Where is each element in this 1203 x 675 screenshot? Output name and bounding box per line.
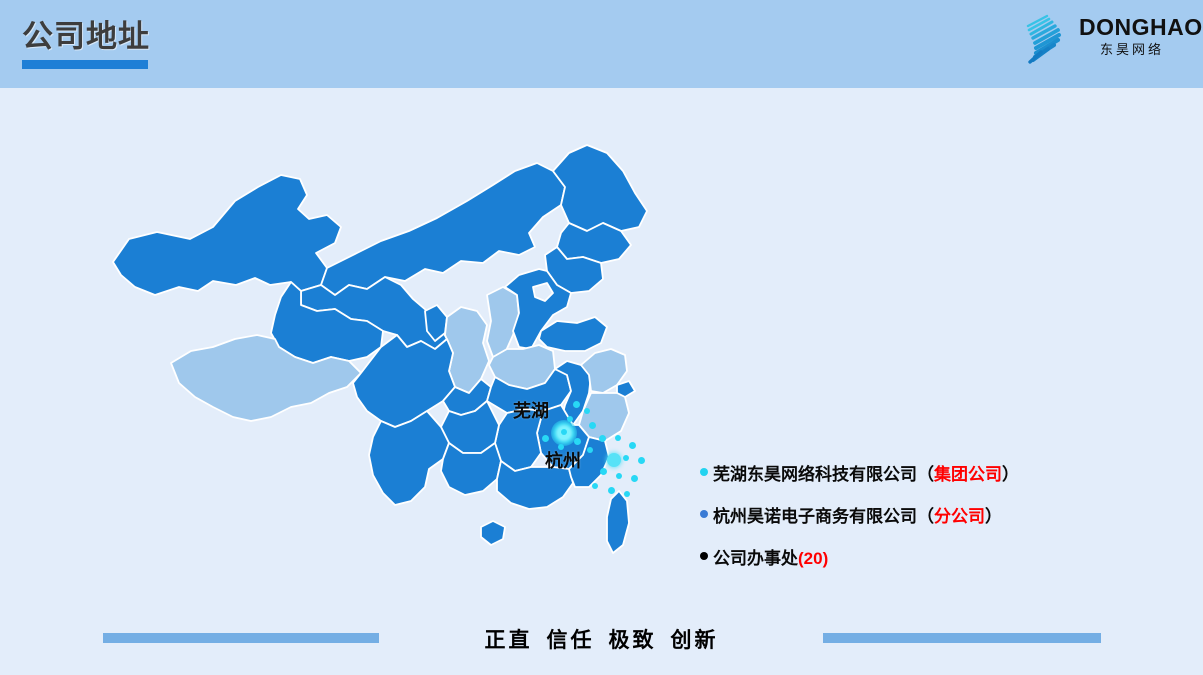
marker-office[interactable] [631, 475, 638, 482]
slogan-word-2: 信任 [547, 629, 595, 652]
province-hainan [481, 521, 505, 545]
marker-office[interactable] [558, 444, 564, 450]
legend-highlight: 集团公司 [934, 465, 1002, 484]
legend-paren-close: ） [1002, 465, 1019, 484]
marker-office[interactable] [574, 438, 581, 445]
marker-office[interactable] [638, 457, 645, 464]
marker-office[interactable] [584, 408, 590, 414]
legend-company-name: 公司办事处 [713, 549, 798, 568]
company-logo: DONGHAO 东昊网络 [1017, 8, 1185, 70]
marker-office[interactable] [629, 442, 636, 449]
legend-company-name: 芜湖东昊网络科技有限公司 [713, 465, 917, 484]
marker-branch-hangzhou[interactable] [607, 453, 621, 467]
marker-office[interactable] [624, 491, 630, 497]
slogan-word-3: 极致 [609, 629, 657, 652]
legend-bullet-icon [700, 552, 708, 560]
logo-text: DONGHAO 东昊网络 [1079, 14, 1185, 59]
slogan-word-4: 创新 [671, 629, 719, 652]
province-heilongjiang [553, 145, 647, 231]
slogan-word-1: 正直 [485, 629, 533, 652]
page-title-wrap: 公司地址 [22, 18, 150, 69]
province-shanxi [487, 287, 519, 357]
title-underline [22, 60, 148, 69]
logo-name: DONGHAO [1079, 14, 1185, 40]
legend-label: 杭州昊诺电子商务有限公司（分公司） [713, 502, 1002, 527]
legend-paren-close: ） [985, 507, 1002, 526]
marker-office[interactable] [615, 435, 621, 441]
province-yunnan [369, 411, 449, 505]
legend-label: 公司办事处(20) [713, 544, 828, 569]
map-legend: 芜湖东昊网络科技有限公司（集团公司） 杭州昊诺电子商务有限公司（分公司） 公司办… [700, 462, 1120, 588]
province-shandong [539, 317, 607, 351]
legend-item-branch-company: 杭州昊诺电子商务有限公司（分公司） [700, 504, 1120, 524]
province-xinjiang [113, 175, 341, 295]
feather-wing-icon [1017, 10, 1079, 68]
legend-item-group-company: 芜湖东昊网络科技有限公司（集团公司） [700, 462, 1120, 482]
legend-bullet-icon [700, 468, 708, 476]
marker-office[interactable] [608, 487, 615, 494]
slide-header: 公司地址 DONGHAO 东昊网络 [0, 0, 1203, 88]
marker-office[interactable] [592, 483, 598, 489]
marker-office[interactable] [623, 455, 629, 461]
legend-highlight: 分公司 [934, 507, 985, 526]
marker-office[interactable] [616, 473, 622, 479]
china-map[interactable]: 芜湖 杭州 [95, 135, 715, 615]
legend-item-offices: 公司办事处(20) [700, 546, 1120, 566]
marker-office[interactable] [567, 416, 573, 422]
map-label-hangzhou: 杭州 [545, 447, 581, 473]
legend-highlight: (20) [798, 549, 828, 568]
marker-office[interactable] [561, 429, 567, 435]
legend-company-name: 杭州昊诺电子商务有限公司 [713, 507, 917, 526]
marker-office[interactable] [589, 422, 596, 429]
marker-office[interactable] [599, 435, 606, 442]
page-title: 公司地址 [22, 18, 150, 56]
legend-bullet-icon [700, 510, 708, 518]
legend-paren-open: （ [917, 507, 934, 526]
marker-office[interactable] [587, 447, 593, 453]
marker-office[interactable] [600, 468, 607, 475]
legend-paren-open: （ [917, 465, 934, 484]
slide-footer: 正直信任极致创新 [0, 620, 1203, 675]
province-taiwan [607, 491, 629, 553]
marker-office[interactable] [573, 401, 580, 408]
footer-slogan: 正直信任极致创新 [0, 624, 1203, 654]
logo-sub: 东昊网络 [1079, 41, 1185, 59]
legend-label: 芜湖东昊网络科技有限公司（集团公司） [713, 460, 1019, 485]
map-label-wuhu: 芜湖 [513, 397, 549, 423]
marker-office[interactable] [542, 435, 549, 442]
